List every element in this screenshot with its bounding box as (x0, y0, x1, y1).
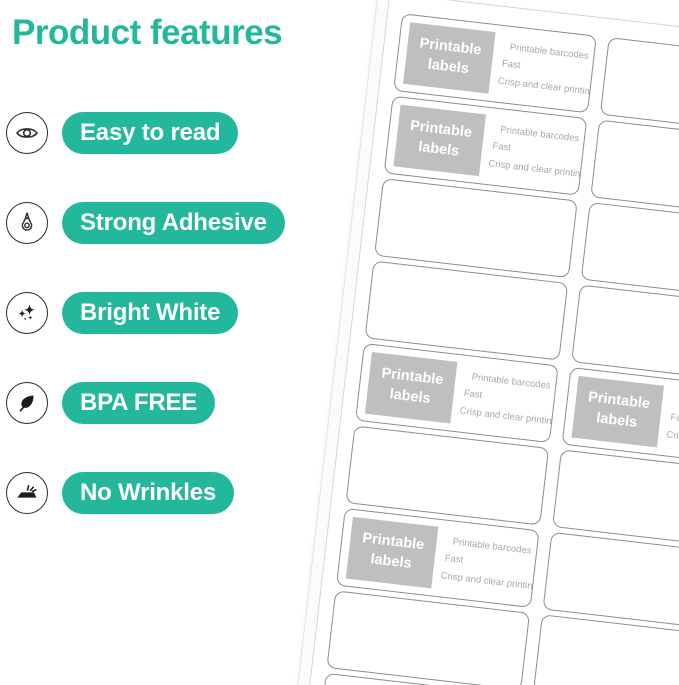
product-features-infographic: Product features Easy to read (0, 0, 679, 685)
label-badge-line-2: labels (417, 138, 460, 162)
label-badge: Printablelabels (346, 517, 439, 588)
eye-icon (6, 112, 48, 154)
glue-bottle-icon (6, 202, 48, 244)
label-cell: PrintablelabelsPrintable barcodesFastCri… (533, 614, 679, 685)
label-cell: PrintablelabelsPrintable barcodesFastCri… (384, 96, 588, 196)
feature-pill-strong-adhesive: Strong Adhesive (62, 202, 285, 244)
feature-item-no-wrinkles: No Wrinkles (0, 470, 340, 516)
label-content: PrintablelabelsPrintable barcodesFastCri… (564, 375, 679, 459)
label-body-line: Crisp and clear printing (665, 426, 679, 455)
label-cell: PrintablelabelsPrintable barcodesFastCri… (365, 261, 569, 361)
feature-pill-bright-white: Bright White (62, 292, 238, 334)
leaf-icon (6, 382, 48, 424)
feature-pill-no-wrinkles: No Wrinkles (62, 472, 234, 514)
label-badge: Printablelabels (571, 376, 664, 447)
iron-icon (6, 472, 48, 514)
label-cell: PrintablelabelsPrintable barcodesFastCri… (326, 590, 530, 685)
label-body-lines: Printable barcodesFastCrisp and clear pr… (442, 533, 540, 596)
label-badge: Printablelabels (393, 105, 486, 176)
label-body-lines: Printable barcodesFastCrisp and clear pr… (499, 38, 597, 101)
label-body-lines: Printable barcodesFastCrisp and clear pr… (489, 120, 587, 183)
feature-pill-bpa-free: BPA FREE (62, 382, 215, 424)
label-badge: Printablelabels (403, 22, 496, 93)
label-badge-line-2: labels (595, 409, 638, 433)
page-title: Product features (12, 13, 282, 53)
feature-list: Easy to read Strong Adhesive (0, 110, 340, 560)
features-panel: Product features Easy to read (0, 0, 340, 685)
label-content: PrintablelabelsPrintable barcodesFastCri… (395, 21, 595, 105)
label-badge: Printablelabels (365, 352, 458, 423)
label-body-lines: Printable barcodesFastCrisp and clear pr… (461, 368, 559, 431)
feature-item-bright-white: Bright White (0, 290, 340, 336)
label-badge-line-2: labels (388, 385, 431, 409)
label-body-lines: Printable barcodesFastCrisp and clear pr… (667, 392, 679, 455)
feature-pill-easy-to-read: Easy to read (62, 112, 238, 154)
label-cell: PrintablelabelsPrintable barcodesFastCri… (355, 343, 559, 443)
label-cell: PrintablelabelsPrintable barcodesFastCri… (345, 425, 549, 525)
label-content: PrintablelabelsPrintable barcodesFastCri… (338, 516, 538, 600)
label-content: PrintablelabelsPrintable barcodesFastCri… (386, 104, 586, 188)
feature-item-strong-adhesive: Strong Adhesive (0, 200, 340, 246)
label-badge-line-2: labels (369, 550, 412, 574)
label-content: PrintablelabelsPrintable barcodesFastCri… (357, 351, 557, 435)
label-cell: PrintablelabelsPrintable barcodesFastCri… (374, 178, 578, 278)
feature-item-bpa-free: BPA FREE (0, 380, 340, 426)
feature-item-easy-to-read: Easy to read (0, 110, 340, 156)
label-badge-line-2: labels (427, 56, 470, 80)
label-cell: PrintablelabelsPrintable barcodesFastCri… (393, 13, 597, 113)
sparkles-icon (6, 292, 48, 334)
label-sheet-front: PrintablelabelsPrintable barcodesFastCri… (301, 0, 679, 685)
label-cell: PrintablelabelsPrintable barcodesFastCri… (336, 508, 540, 608)
